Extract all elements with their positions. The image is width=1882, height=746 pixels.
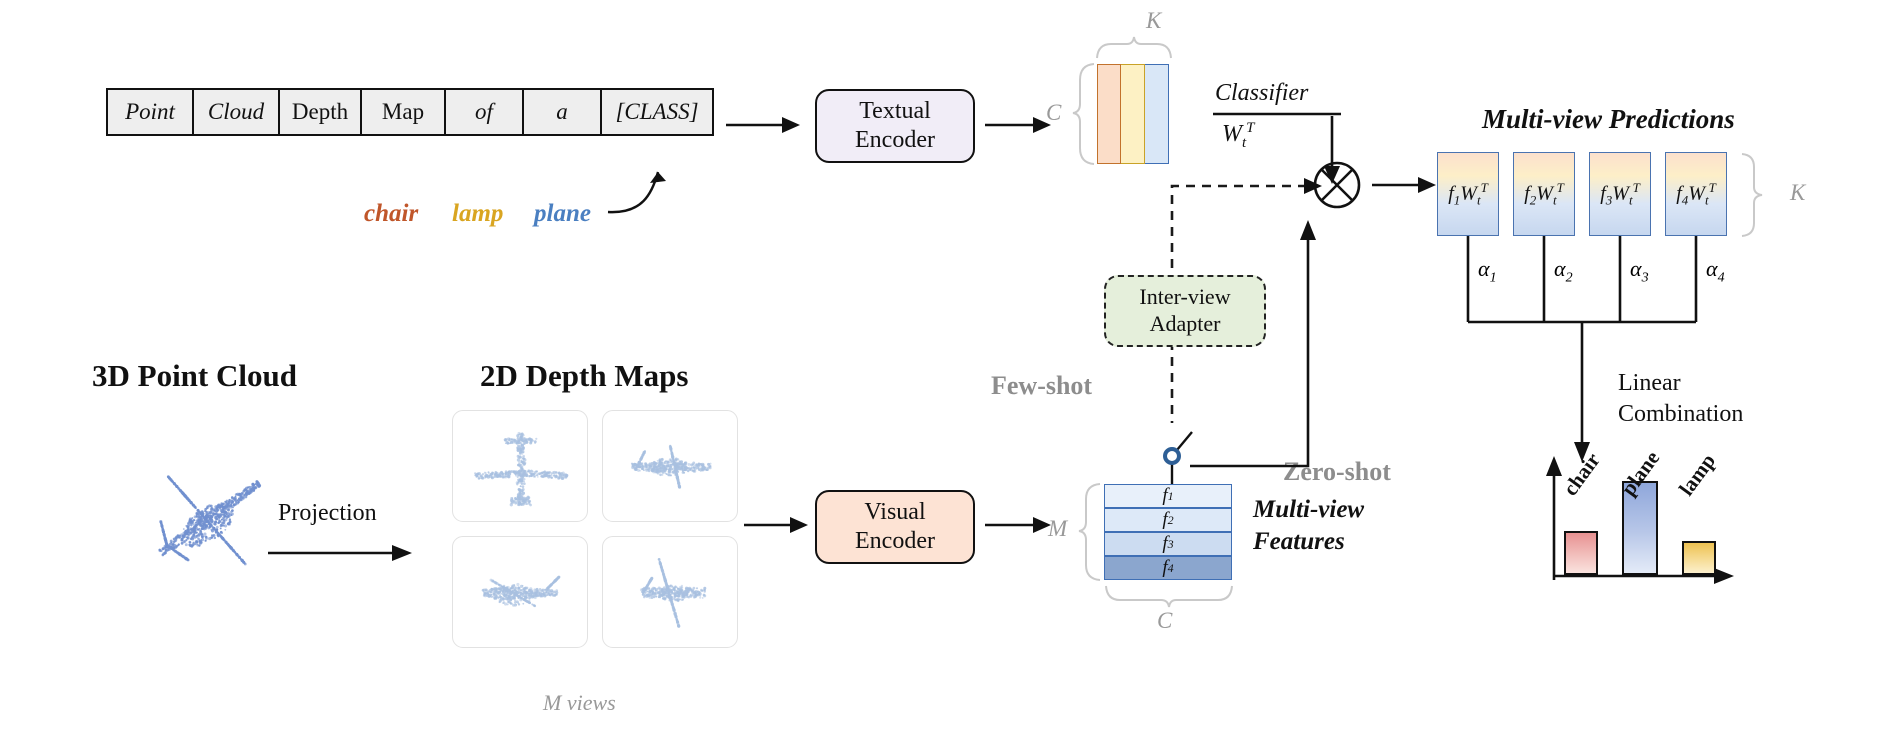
depth-map-plane-front (453, 411, 588, 522)
classifier-column-lamp (1121, 64, 1145, 164)
classifier-weight-w: W (1222, 121, 1242, 147)
alpha-label-4: α4 (1706, 256, 1725, 286)
prediction-3-w: W (1612, 182, 1629, 204)
classifier-weight-matrix (1097, 64, 1169, 164)
depth-map-plane-side (603, 411, 738, 522)
alpha-label-1: α1 (1478, 256, 1497, 286)
prediction-4-w: W (1688, 182, 1705, 204)
alpha-label-2: α2 (1554, 256, 1573, 286)
classifier-column-plane (1145, 64, 1169, 164)
prediction-3-wsup: T (1633, 180, 1640, 195)
prompt-token-row: Point Cloud Depth Map of a [CLASS] (106, 88, 714, 136)
few-shot-dashed-path-lower (1162, 341, 1186, 425)
features-label-c: C (1157, 608, 1172, 634)
depth-map-plane-rear (603, 537, 738, 648)
views-caption: M views (543, 690, 616, 716)
point-cloud-title: 3D Point Cloud (92, 358, 297, 394)
textual-encoder-label-line2: Encoder (855, 126, 935, 155)
prediction-1-w: W (1460, 182, 1477, 204)
multi-view-features-caption: Multi-view Features (1253, 494, 1364, 558)
visual-encoder-label-line2: Encoder (855, 527, 935, 556)
arrow-visual-branch-to-multiply (1300, 214, 1330, 428)
arrow-multiply-to-predictions (1372, 172, 1440, 198)
depth-map-plane-top (453, 537, 588, 648)
prediction-box-1: f1WtT (1437, 152, 1499, 236)
class-word-plane: plane (534, 200, 591, 228)
class-substitution-arrow (600, 150, 710, 220)
depth-map-grid (452, 410, 738, 648)
linear-combination-line2: Combination (1618, 399, 1743, 430)
linear-combination-line1: Linear (1618, 368, 1743, 399)
projection-label: Projection (278, 500, 377, 527)
alpha-label-3: α3 (1630, 256, 1649, 286)
visual-encoder-label-line1: Visual (864, 498, 925, 527)
predictions-brace-k (1740, 152, 1764, 238)
adapter-label-line1: Inter-view (1139, 284, 1230, 311)
prediction-2-wsup: T (1557, 180, 1564, 195)
prompt-token-point: Point (108, 90, 194, 134)
textual-encoder-label-line1: Textual (859, 97, 931, 126)
prediction-1-wsup: T (1481, 180, 1488, 195)
prediction-bar-chart: chair plane lamp (1540, 470, 1710, 575)
classifier-label-k: K (1146, 8, 1161, 34)
depth-map-card-2[interactable] (602, 410, 738, 522)
arrow-prompt-to-textual-encoder (726, 112, 804, 138)
feature-row-4: f4 (1104, 556, 1232, 580)
classifier-weight-symbol: WtT (1222, 120, 1255, 152)
feature-row-3: f3 (1104, 532, 1232, 556)
class-word-lamp: lamp (452, 200, 503, 228)
features-brace-m (1078, 482, 1102, 582)
prompt-token-a: a (524, 90, 602, 134)
depth-maps-title: 2D Depth Maps (480, 358, 688, 394)
prompt-token-cloud: Cloud (194, 90, 280, 134)
bar-lamp (1682, 541, 1716, 575)
visual-encoder-box[interactable]: Visual Encoder (815, 490, 975, 564)
arrow-projection (268, 540, 418, 566)
inter-view-adapter-box[interactable]: Inter-view Adapter (1104, 275, 1266, 347)
adapter-label-line2: Adapter (1150, 311, 1221, 338)
multi-view-prediction-boxes: f1WtT f2WtT f3WtT f4WtT (1437, 152, 1727, 236)
arrow-depth-maps-to-visual-encoder (744, 512, 812, 538)
prompt-token-map: Map (362, 90, 446, 134)
features-brace-c (1104, 584, 1234, 608)
features-caption-line1: Multi-view (1253, 494, 1364, 526)
multi-view-feature-stack: f1 f2 f3 f4 (1104, 484, 1232, 580)
linear-combination-label: Linear Combination (1618, 368, 1743, 429)
classifier-brace-k (1095, 36, 1175, 60)
few-shot-label: Few-shot (991, 371, 1092, 401)
textual-encoder-box[interactable]: Textual Encoder (815, 89, 975, 163)
feature-row-1: f1 (1104, 484, 1232, 508)
classifier-title: Classifier (1215, 80, 1308, 107)
prompt-token-depth: Depth (280, 90, 362, 134)
bar-chair (1564, 531, 1598, 575)
classifier-label-c: C (1046, 100, 1061, 126)
prediction-box-2: f2WtT (1513, 152, 1575, 236)
features-label-m: M (1048, 516, 1067, 542)
class-word-chair: chair (364, 200, 418, 228)
prediction-box-4: f4WtT (1665, 152, 1727, 236)
prediction-2-w: W (1536, 182, 1553, 204)
depth-map-card-4[interactable] (602, 536, 738, 648)
feature-row-2: f2 (1104, 508, 1232, 532)
depth-map-card-1[interactable] (452, 410, 588, 522)
prediction-box-3: f3WtT (1589, 152, 1651, 236)
arrow-visual-encoder-to-features (985, 512, 1055, 538)
predictions-label-k: K (1790, 180, 1805, 206)
depth-map-card-3[interactable] (452, 536, 588, 648)
alpha-combination-bus (1437, 236, 1737, 342)
prompt-token-class: [CLASS] (602, 90, 712, 134)
features-caption-line2: Features (1253, 526, 1364, 558)
multi-view-predictions-title: Multi-view Predictions (1482, 104, 1735, 135)
classifier-brace-c (1072, 62, 1096, 166)
classifier-weight-superscript: T (1246, 120, 1254, 136)
classifier-weight-subscript: t (1242, 135, 1246, 151)
prompt-token-of: of (446, 90, 524, 134)
prediction-4-wsup: T (1709, 180, 1716, 195)
classifier-column-chair (1097, 64, 1121, 164)
arrow-textual-encoder-to-classifier (985, 112, 1055, 138)
